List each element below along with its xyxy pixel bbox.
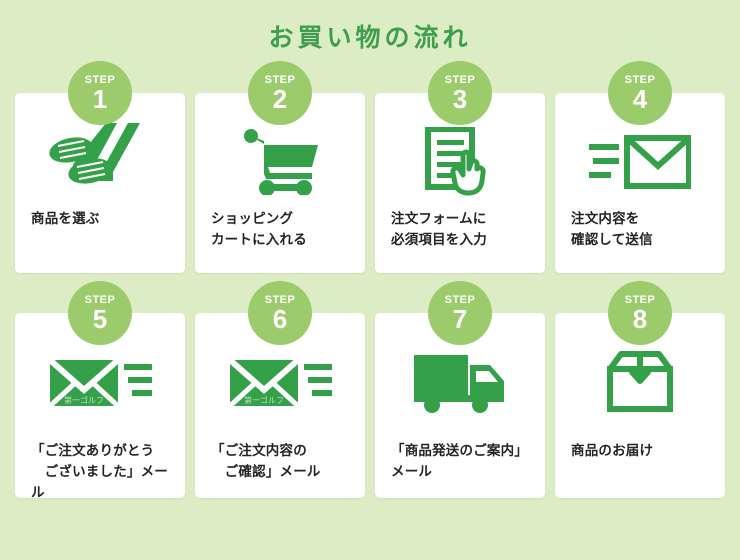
received-mail-icon: 第一ゴルフ xyxy=(228,354,332,410)
step-card-3[interactable]: STEP 3 注文フォームに 必須項目を入力 xyxy=(375,93,545,273)
step-badge-2: STEP 2 xyxy=(248,61,312,125)
step-caption-1: 商品を選ぶ xyxy=(15,201,185,230)
step-badge-number: 6 xyxy=(273,306,287,332)
step-badge-number: 1 xyxy=(93,86,107,112)
step-caption-8: 商品のお届け xyxy=(555,425,725,462)
page-title: お買い物の流れ xyxy=(0,0,740,51)
step-badge-number: 2 xyxy=(273,86,287,112)
delivery-truck-icon xyxy=(414,351,506,413)
step-badge-7: STEP 7 xyxy=(428,281,492,345)
step-caption-5: 「ご注文ありがとう ございました」メール xyxy=(15,425,185,504)
step-badge-5: STEP 5 xyxy=(68,281,132,345)
step-card-1[interactable]: STEP 1 xyxy=(15,93,185,273)
step-card-8[interactable]: STEP 8 商品のお届け xyxy=(555,313,725,498)
step-caption-2: ショッピング カートに入れる xyxy=(195,201,365,251)
step-card-7[interactable]: STEP 7 「商品発送のご案内」 メール xyxy=(375,313,545,498)
step-caption-7: 「商品発送のご案内」 メール xyxy=(375,425,545,483)
shopping-cart-icon xyxy=(242,129,318,195)
step-badge-4: STEP 4 xyxy=(608,61,672,125)
step-badge-number: 3 xyxy=(453,86,467,112)
golf-clubs-icon xyxy=(46,123,154,201)
step-badge-6: STEP 6 xyxy=(248,281,312,345)
send-mail-icon xyxy=(589,134,691,190)
step-card-4[interactable]: STEP 4 注文内容を 確認して送信 xyxy=(555,93,725,273)
step-badge-number: 4 xyxy=(633,86,647,112)
envelope-brand-text: 第一ゴルフ xyxy=(244,395,284,405)
step-caption-6: 「ご注文内容の ご確認」メール xyxy=(195,425,365,483)
step-caption-3: 注文フォームに 必須項目を入力 xyxy=(375,201,545,251)
steps-grid: STEP 1 xyxy=(15,51,725,498)
order-form-hand-icon xyxy=(425,127,495,197)
step-card-6[interactable]: STEP 6 第一ゴルフ 「ご注文内容の ご確認」メール xyxy=(195,313,365,498)
step-card-5[interactable]: STEP 5 第一ゴルフ 「ご注文ありがとう ございました」メール xyxy=(15,313,185,498)
step-badge-number: 8 xyxy=(633,306,647,332)
step-badge-number: 7 xyxy=(453,306,467,332)
step-badge-8: STEP 8 xyxy=(608,281,672,345)
package-box-icon xyxy=(605,351,675,413)
step-badge-1: STEP 1 xyxy=(68,61,132,125)
step-card-2[interactable]: STEP 2 ショッピング カートに入れる xyxy=(195,93,365,273)
step-caption-4: 注文内容を 確認して送信 xyxy=(555,201,725,251)
step-badge-number: 5 xyxy=(93,306,107,332)
envelope-brand-text: 第一ゴルフ xyxy=(64,395,104,405)
received-mail-icon: 第一ゴルフ xyxy=(48,354,152,410)
step-badge-3: STEP 3 xyxy=(428,61,492,125)
